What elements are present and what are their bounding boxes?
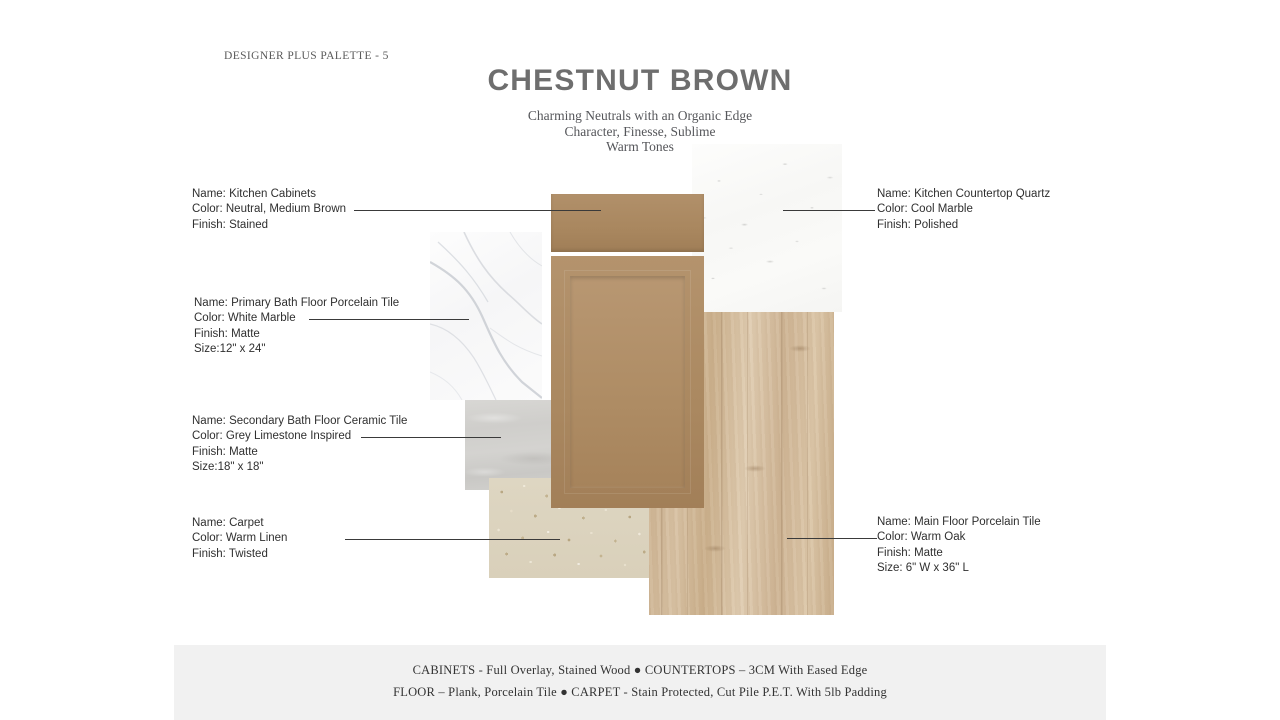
callout-primary-bath-floor: Name: Primary Bath Floor Porcelain Tile … [194,296,399,358]
swatch-cabinet-shaker-door [551,256,704,508]
callout-name: Name: Kitchen Countertop Quartz [877,187,1050,202]
subtitle-line-1: Charming Neutrals with an Organic Edge [0,108,1280,124]
marble-veining [430,232,542,400]
callout-finish: Finish: Matte [877,546,1041,561]
callout-main-floor: Name: Main Floor Porcelain Tile Color: W… [877,515,1041,577]
callout-name: Name: Kitchen Cabinets [192,187,346,202]
page-subtitle: Charming Neutrals with an Organic Edge C… [0,108,1280,155]
callout-name: Name: Primary Bath Floor Porcelain Tile [194,296,399,311]
page-title: CHESTNUT BROWN [0,64,1280,98]
leader-line-main-floor [787,538,877,539]
callout-size: Size: 6" W x 36" L [877,561,1041,576]
callout-finish: Finish: Matte [192,445,407,460]
callout-name: Name: Main Floor Porcelain Tile [877,515,1041,530]
callout-size: Size:12" x 24" [194,342,399,357]
callout-carpet: Name: Carpet Color: Warm Linen Finish: T… [192,516,287,562]
callout-size: Size:18" x 18" [192,460,407,475]
callout-finish: Finish: Twisted [192,547,287,562]
callout-finish: Finish: Polished [877,218,1050,233]
callout-finish: Finish: Stained [192,218,346,233]
callout-name: Name: Carpet [192,516,287,531]
design-palette-board: DESIGNER PLUS PALETTE - 5 CHESTNUT BROWN… [0,0,1280,720]
subtitle-line-3: Warm Tones [0,139,1280,155]
leader-line-kitchen-cabinets [354,210,601,211]
callout-color: Color: Warm Oak [877,530,1041,545]
palette-reference: DESIGNER PLUS PALETTE - 5 [224,50,389,62]
swatch-primary-bath-marble-tile [430,232,542,400]
callout-name: Name: Secondary Bath Floor Ceramic Tile [192,414,407,429]
subtitle-line-2: Character, Finesse, Sublime [0,124,1280,140]
leader-line-carpet [345,539,560,540]
callout-color: Color: Grey Limestone Inspired [192,429,407,444]
cabinet-door-inset [570,276,685,488]
footer-line-2: FLOOR – Plank, Porcelain Tile ● CARPET -… [174,685,1106,700]
callout-color: Color: Neutral, Medium Brown [192,202,346,217]
callout-color: Color: Cool Marble [877,202,1050,217]
callout-finish: Finish: Matte [194,327,399,342]
swatch-countertop-quartz [692,144,842,312]
footer-spec-bar: CABINETS - Full Overlay, Stained Wood ● … [174,645,1106,720]
swatch-secondary-bath-limestone-tile [465,400,563,490]
callout-kitchen-countertop: Name: Kitchen Countertop Quartz Color: C… [877,187,1050,233]
footer-line-1: CABINETS - Full Overlay, Stained Wood ● … [174,663,1106,678]
callout-kitchen-cabinets: Name: Kitchen Cabinets Color: Neutral, M… [192,187,346,233]
callout-secondary-bath-floor: Name: Secondary Bath Floor Ceramic Tile … [192,414,407,476]
callout-color: Color: White Marble [194,311,399,326]
callout-color: Color: Warm Linen [192,531,287,546]
swatch-cabinet-upper-panel [551,194,704,252]
leader-line-countertop [783,210,875,211]
